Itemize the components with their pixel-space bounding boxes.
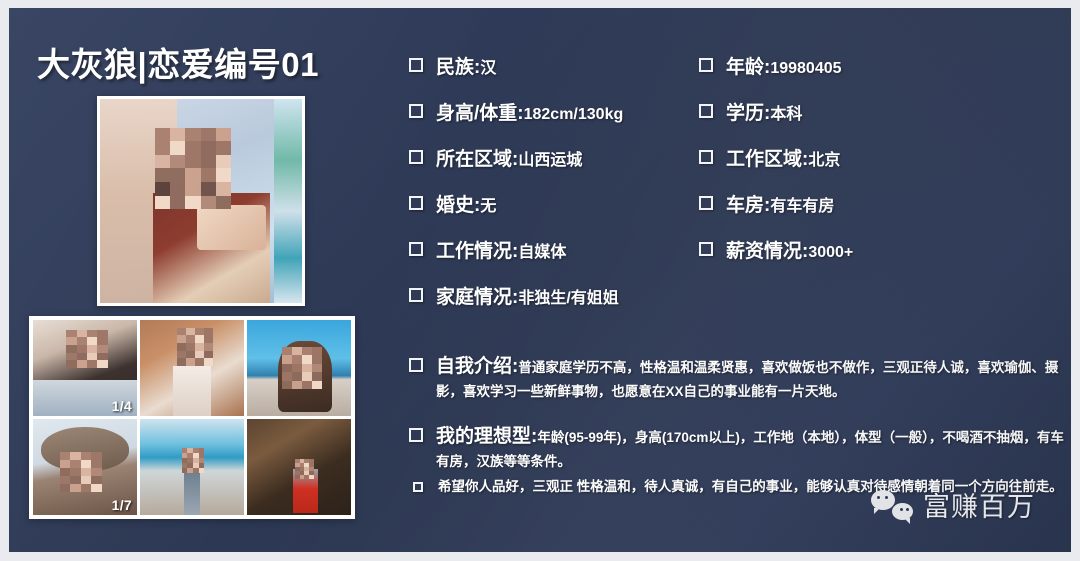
- info-item: 工作区域:北京: [699, 144, 1029, 171]
- mosaic-block: [97, 345, 107, 353]
- mosaic-block: [170, 155, 185, 169]
- list-item[interactable]: 1/4: [33, 320, 137, 416]
- mosaic-block: [185, 128, 200, 142]
- mosaic-block: [186, 351, 195, 359]
- checkbox-icon: [409, 288, 423, 302]
- portrait-hand: [197, 205, 266, 250]
- list-item[interactable]: [247, 419, 351, 515]
- mosaic-block: [177, 335, 186, 343]
- mosaic-block: [185, 155, 200, 169]
- mosaic-block: [81, 452, 91, 460]
- info-item-label: 车房:: [726, 190, 770, 217]
- info-item-value: 无: [480, 192, 496, 216]
- wechat-bubble-small: [892, 503, 913, 520]
- info-item-value: 3000+: [808, 244, 853, 262]
- mosaic-block: [185, 182, 200, 196]
- mosaic-block: [77, 337, 87, 345]
- mosaic-block: [199, 468, 205, 473]
- checkbox-icon: [699, 196, 713, 210]
- mosaic-block: [91, 468, 101, 476]
- info-item-label: 工作区域:: [726, 144, 808, 171]
- mosaic-block: [177, 328, 186, 336]
- wechat-dot: [877, 496, 880, 499]
- mosaic-block: [87, 360, 97, 368]
- mosaic-block: [186, 328, 195, 336]
- mosaic-block: [70, 476, 80, 484]
- mosaic-block: [81, 484, 91, 492]
- mosaic-block: [312, 364, 322, 372]
- mosaic-block: [91, 484, 101, 492]
- photo-grid-frame: 1/4 1/7: [29, 316, 355, 519]
- ideal-type-heading: 我的理想型:: [436, 426, 537, 447]
- mosaic-block: [201, 196, 216, 210]
- mosaic-block: [309, 475, 314, 479]
- info-item-value: 汉: [480, 54, 496, 78]
- mosaic-block: [186, 343, 195, 351]
- mosaic-block: [186, 358, 195, 366]
- checkbox-icon: [699, 104, 713, 118]
- info-item: 薪资情况:3000+: [699, 236, 1029, 263]
- mosaic-block: [185, 141, 200, 155]
- info-item-label: 学历:: [726, 98, 770, 125]
- info-item-label: 民族:: [436, 52, 480, 79]
- mosaic-block: [97, 353, 107, 361]
- info-item-label: 所在区域:: [436, 144, 518, 171]
- checkbox-icon: [409, 58, 423, 72]
- mosaic-block: [204, 335, 213, 343]
- info-item-label: 年龄:: [726, 52, 770, 79]
- mosaic-block: [195, 343, 204, 351]
- ideal-type-text: 我的理想型:年龄(95-99年)，身高(170cm以上)，工作地（本地），体型（…: [436, 424, 1069, 474]
- list-item[interactable]: [247, 320, 351, 416]
- mosaic-block: [216, 196, 231, 210]
- mosaic-block: [66, 330, 76, 338]
- pixelated-face-mosaic: [66, 330, 108, 368]
- wechat-icon: [871, 490, 913, 520]
- info-item-label: 家庭情况:: [436, 282, 518, 309]
- mosaic-block: [81, 476, 91, 484]
- info-item-value: 北京: [808, 146, 840, 170]
- mosaic-block: [292, 381, 302, 389]
- mosaic-block: [282, 347, 292, 355]
- mosaic-block: [282, 364, 292, 372]
- checkbox-icon: [409, 428, 423, 442]
- mosaic-block: [282, 381, 292, 389]
- mosaic-block: [204, 328, 213, 336]
- mosaic-block: [204, 351, 213, 359]
- mosaic-block: [87, 345, 97, 353]
- info-item-label: 薪资情况:: [726, 236, 808, 263]
- main-portrait-photo[interactable]: [97, 96, 305, 306]
- mosaic-block: [204, 343, 213, 351]
- mosaic-block: [77, 353, 87, 361]
- mosaic-block: [292, 355, 302, 363]
- mosaic-block: [170, 168, 185, 182]
- checkbox-icon: [409, 150, 423, 164]
- info-item: 家庭情况:非独生/有姐姐: [409, 282, 709, 309]
- mosaic-block: [302, 364, 312, 372]
- mosaic-block: [312, 381, 322, 389]
- info-item-value: 本科: [770, 100, 802, 124]
- mosaic-block: [70, 484, 80, 492]
- mosaic-block: [195, 358, 204, 366]
- info-item: 年龄:19980405: [699, 52, 1029, 79]
- mosaic-block: [66, 337, 76, 345]
- portrait-bg-right: [274, 99, 302, 303]
- checkbox-icon: [699, 150, 713, 164]
- pixelated-face-mosaic: [295, 459, 314, 478]
- info-column-right: 年龄:19980405学历:本科工作区域:北京车房:有车有房薪资情况:3000+: [699, 52, 1029, 282]
- mosaic-block: [155, 168, 170, 182]
- mosaic-block: [77, 330, 87, 338]
- mosaic-block: [282, 372, 292, 380]
- status-badge: 1/4: [112, 398, 132, 414]
- mosaic-block: [312, 347, 322, 355]
- mosaic-block: [170, 128, 185, 142]
- info-item-value: 有车有房: [770, 192, 834, 216]
- checkbox-icon: [699, 58, 713, 72]
- photo-grid: 1/4 1/7: [33, 320, 351, 515]
- photo-2-layer: [173, 366, 210, 416]
- mosaic-block: [97, 360, 107, 368]
- mosaic-block: [81, 460, 91, 468]
- mosaic-block: [155, 182, 170, 196]
- mosaic-block: [292, 372, 302, 380]
- checkbox-icon: [409, 196, 423, 210]
- mosaic-block: [91, 460, 101, 468]
- mosaic-block: [216, 155, 231, 169]
- mosaic-block: [216, 182, 231, 196]
- mosaic-block: [155, 128, 170, 142]
- pixelated-face-mosaic: [177, 328, 212, 366]
- mosaic-block: [201, 168, 216, 182]
- status-badge: 1/7: [112, 497, 132, 513]
- mosaic-block: [216, 168, 231, 182]
- mosaic-block: [185, 196, 200, 210]
- mosaic-block: [60, 452, 70, 460]
- mosaic-block: [195, 351, 204, 359]
- mosaic-block: [201, 128, 216, 142]
- slide-page: 大灰狼|恋爱编号01 1/4: [0, 0, 1080, 561]
- checkbox-icon: [409, 358, 423, 372]
- mosaic-block: [312, 355, 322, 363]
- page-title: 大灰狼|恋爱编号01: [37, 38, 319, 86]
- info-item: 婚史:无: [409, 190, 709, 217]
- mosaic-block: [302, 381, 312, 389]
- mosaic-block: [204, 358, 213, 366]
- mosaic-block: [185, 168, 200, 182]
- mosaic-block: [170, 196, 185, 210]
- mosaic-block: [201, 141, 216, 155]
- mosaic-block: [216, 141, 231, 155]
- info-item: 所在区域:山西运城: [409, 144, 709, 171]
- mosaic-block: [216, 128, 231, 142]
- info-item-label: 婚史:: [436, 190, 480, 217]
- pixelated-face-mosaic: [182, 448, 205, 473]
- mosaic-block: [282, 355, 292, 363]
- mosaic-block: [70, 468, 80, 476]
- self-introduction-text: 自我介绍:普通家庭学历不高，性格温和温柔贤惠，喜欢做饭也不做作，三观正待人诚，喜…: [436, 354, 1069, 404]
- mosaic-block: [186, 335, 195, 343]
- info-item-label: 身高/体重:: [436, 98, 524, 125]
- info-item: 车房:有车有房: [699, 190, 1029, 217]
- mosaic-block: [155, 141, 170, 155]
- list-item[interactable]: 1/7: [33, 419, 137, 515]
- info-item-value: 自媒体: [518, 238, 566, 262]
- mosaic-block: [60, 468, 70, 476]
- mosaic-block: [292, 364, 302, 372]
- info-item: 民族:汉: [409, 52, 709, 79]
- list-item[interactable]: [140, 320, 244, 416]
- mosaic-block: [195, 328, 204, 336]
- info-item-label: 工作情况:: [436, 236, 518, 263]
- info-item-value: 19980405: [770, 60, 841, 78]
- mosaic-block: [77, 360, 87, 368]
- mosaic-block: [66, 345, 76, 353]
- mosaic-block: [177, 343, 186, 351]
- mosaic-block: [91, 452, 101, 460]
- info-item-value: 182cm/130kg: [524, 106, 624, 124]
- wechat-dot: [906, 508, 909, 511]
- ideal-type-row: 我的理想型:年龄(95-99年)，身高(170cm以上)，工作地（本地），体型（…: [409, 424, 1069, 474]
- checkbox-icon: [413, 482, 423, 492]
- list-item[interactable]: [140, 419, 244, 515]
- mosaic-block: [81, 468, 91, 476]
- self-introduction-block: 自我介绍:普通家庭学历不高，性格温和温柔贤惠，喜欢做饭也不做作，三观正待人诚，喜…: [409, 354, 1069, 404]
- mosaic-block: [60, 476, 70, 484]
- mosaic-block: [302, 372, 312, 380]
- mosaic-block: [170, 182, 185, 196]
- mosaic-block: [201, 182, 216, 196]
- mosaic-block: [292, 347, 302, 355]
- self-introduction-body: 普通家庭学历不高，性格温和温柔贤惠，喜欢做饭也不做作，三观正待人诚，喜欢瑜伽、摄…: [436, 360, 1058, 399]
- mosaic-block: [177, 351, 186, 359]
- mosaic-block: [155, 196, 170, 210]
- info-item: 工作情况:自媒体: [409, 236, 709, 263]
- mosaic-block: [60, 460, 70, 468]
- portrait-image: [100, 99, 302, 303]
- pixelated-face-mosaic: [155, 128, 232, 210]
- mosaic-block: [87, 353, 97, 361]
- mosaic-block: [70, 460, 80, 468]
- mosaic-block: [97, 337, 107, 345]
- self-introduction-heading: 自我介绍:: [436, 356, 518, 377]
- info-item: 身高/体重:182cm/130kg: [409, 98, 709, 125]
- mosaic-block: [177, 358, 186, 366]
- info-item: 学历:本科: [699, 98, 1029, 125]
- self-introduction-row: 自我介绍:普通家庭学历不高，性格温和温柔贤惠，喜欢做饭也不做作，三观正待人诚，喜…: [409, 354, 1069, 404]
- pixelated-face-mosaic: [282, 347, 322, 389]
- checkbox-icon: [699, 242, 713, 256]
- mosaic-block: [201, 155, 216, 169]
- mosaic-block: [66, 353, 76, 361]
- info-column-left: 民族:汉身高/体重:182cm/130kg所在区域:山西运城婚史:无工作情况:自…: [409, 52, 709, 328]
- watermark: 富赚百万: [871, 485, 1035, 524]
- mosaic-block: [87, 330, 97, 338]
- info-item-value: 非独生/有姐姐: [518, 284, 618, 308]
- mosaic-block: [302, 355, 312, 363]
- mosaic-block: [87, 337, 97, 345]
- mosaic-block: [91, 476, 101, 484]
- watermark-label: 富赚百万: [923, 485, 1035, 524]
- mosaic-block: [97, 330, 107, 338]
- mosaic-block: [170, 141, 185, 155]
- checkbox-icon: [409, 104, 423, 118]
- mosaic-block: [195, 335, 204, 343]
- mosaic-block: [302, 347, 312, 355]
- wechat-bubble-large: [871, 490, 895, 510]
- mosaic-block: [155, 155, 170, 169]
- slide-canvas: 大灰狼|恋爱编号01 1/4: [9, 8, 1071, 552]
- wechat-dot: [900, 508, 903, 511]
- mosaic-block: [66, 360, 76, 368]
- wechat-dot: [885, 496, 888, 499]
- mosaic-block: [60, 484, 70, 492]
- checkbox-icon: [409, 242, 423, 256]
- mosaic-block: [70, 452, 80, 460]
- pixelated-face-mosaic: [60, 452, 102, 492]
- mosaic-block: [77, 345, 87, 353]
- info-item-value: 山西运城: [518, 146, 582, 170]
- mosaic-block: [312, 372, 322, 380]
